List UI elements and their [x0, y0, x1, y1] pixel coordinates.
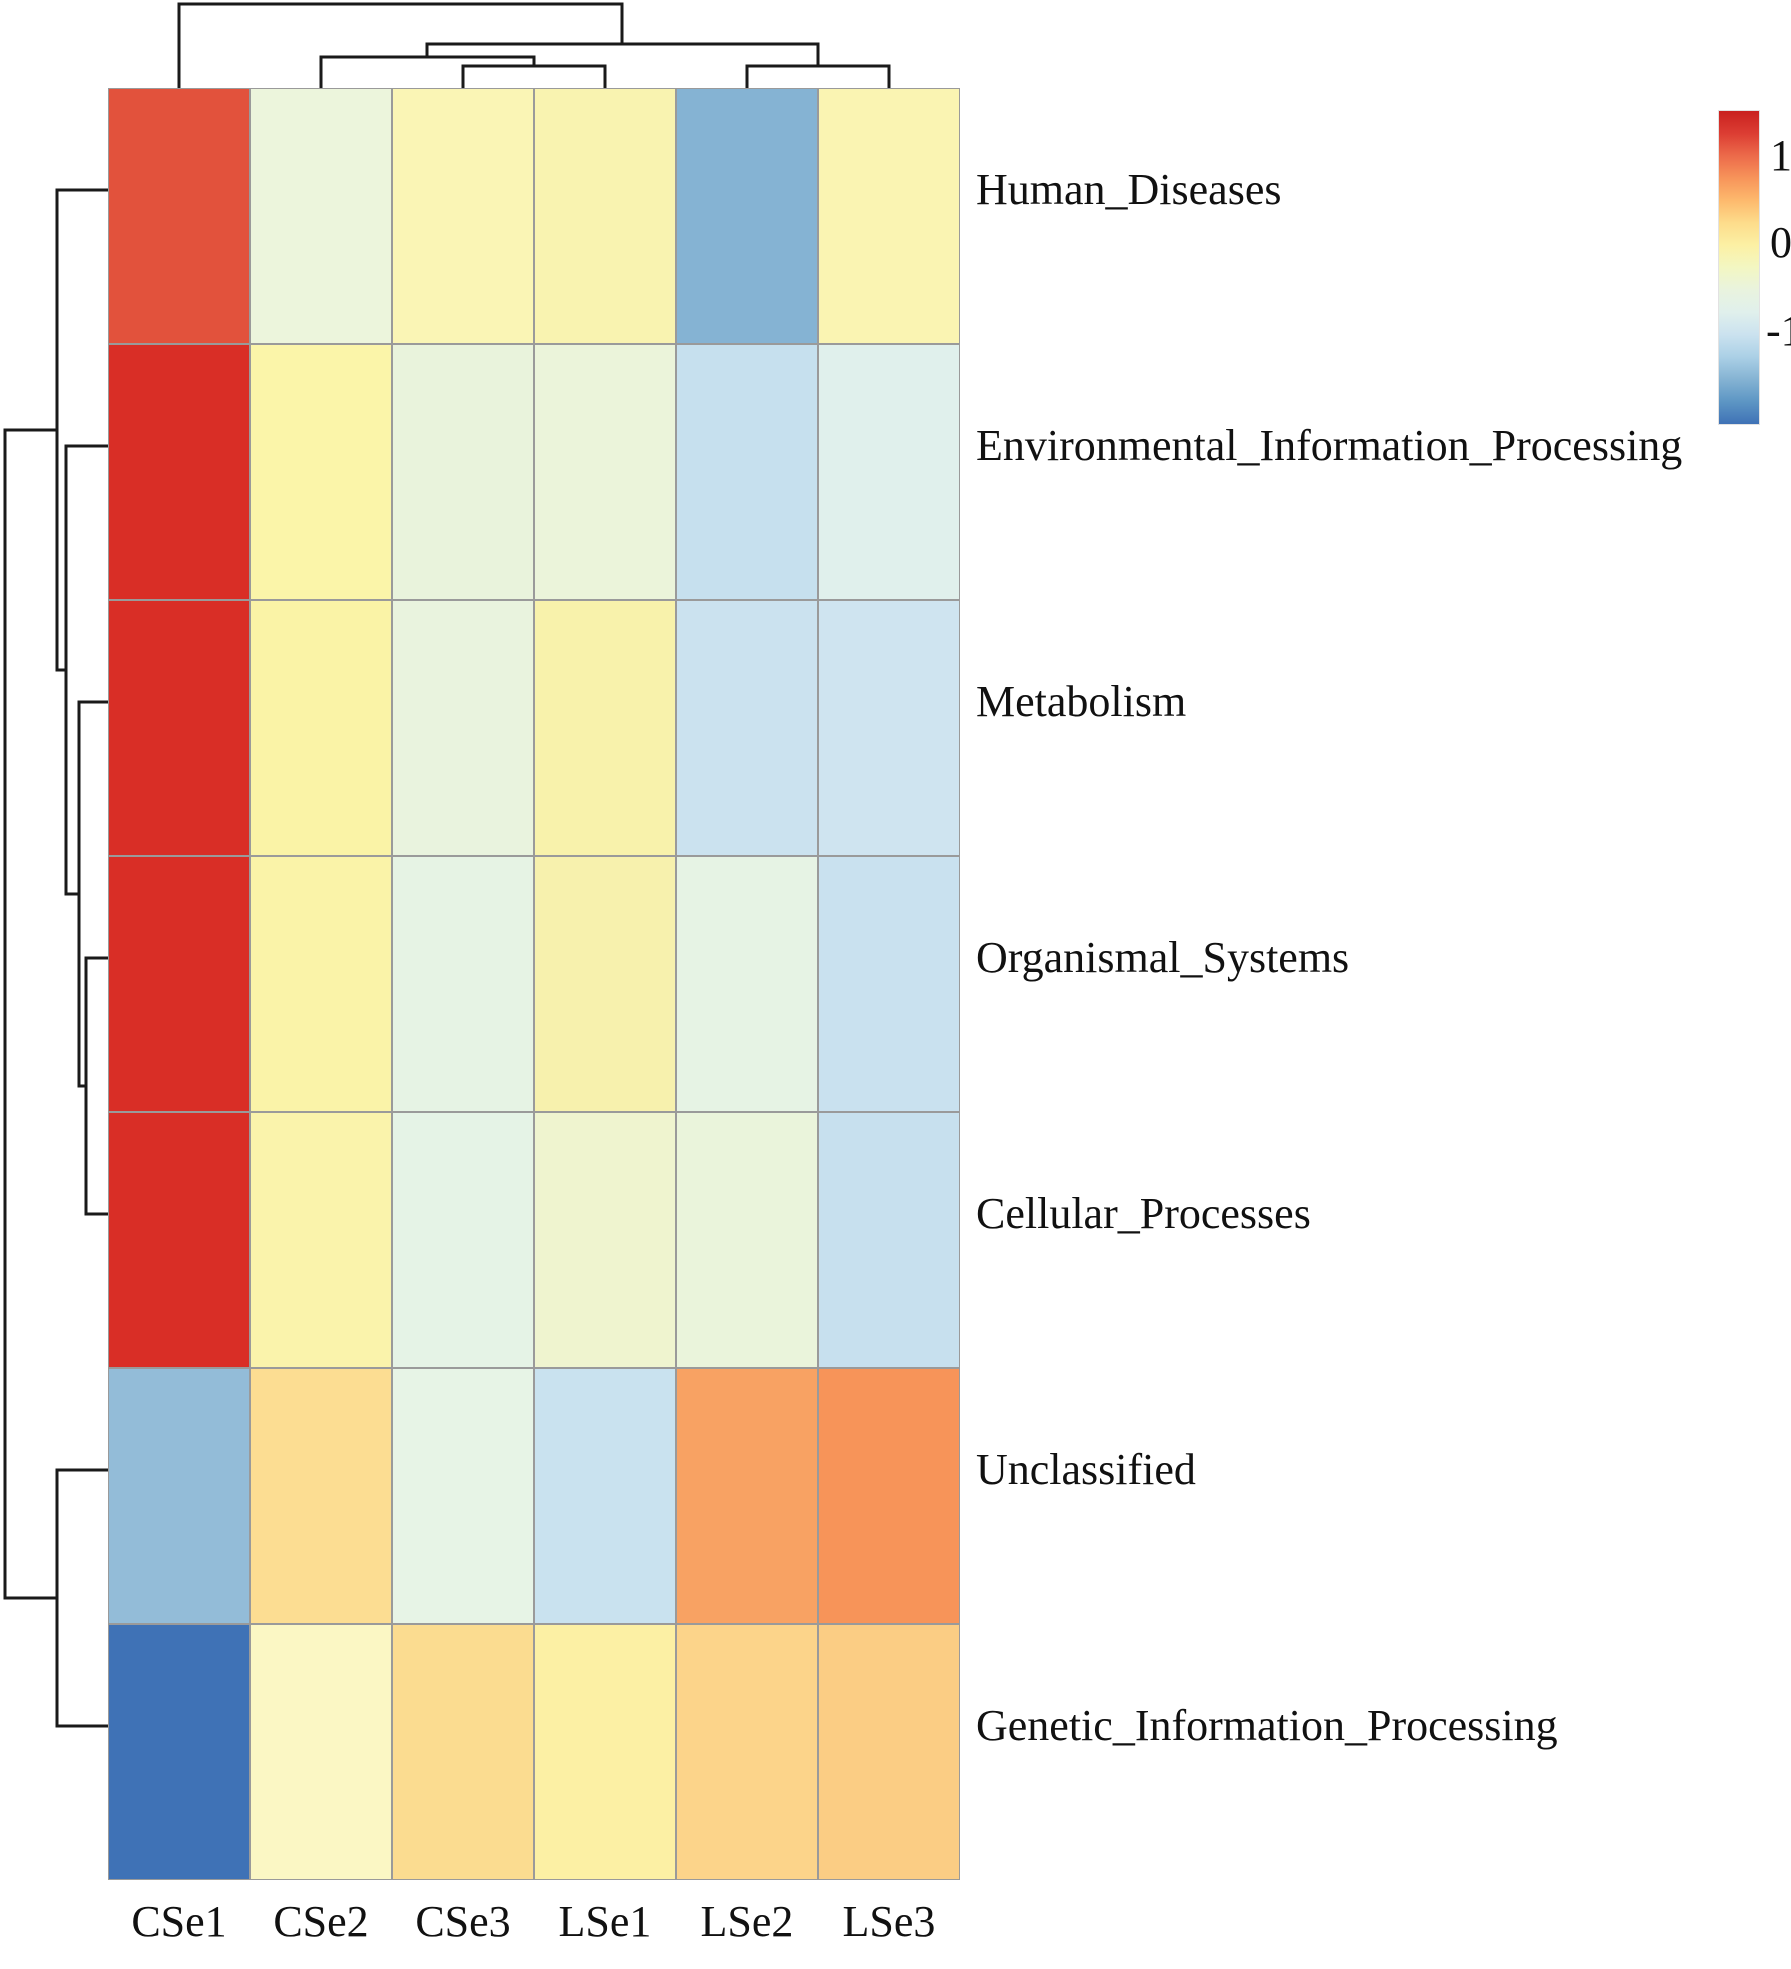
heatmap-cell [250, 88, 392, 344]
row-label-human-diseases: Human_Diseases [976, 168, 1282, 212]
heatmap-cell [818, 88, 960, 344]
heatmap-cell [676, 600, 818, 856]
column-dendrogram [0, 0, 1791, 95]
heatmap-cell [534, 1112, 676, 1368]
column-label-lse3: LSe3 [818, 1900, 960, 1944]
heatmap-cell [392, 1624, 534, 1880]
heatmap-cell [392, 600, 534, 856]
heatmap-cell [108, 88, 250, 344]
heatmap-cell [676, 1368, 818, 1624]
heatmap-cell [676, 1112, 818, 1368]
row-label-metabolism: Metabolism [976, 680, 1186, 724]
colorbar-legend: 1 0 -1 [1718, 110, 1791, 430]
figure-canvas: Human_Diseases Environmental_Information… [0, 0, 1791, 1969]
heatmap-cell [108, 600, 250, 856]
heatmap-cell [534, 600, 676, 856]
heatmap-cell [250, 600, 392, 856]
row-dendrogram [0, 0, 115, 1969]
heatmap-cell [676, 1624, 818, 1880]
heatmap-cell [392, 1112, 534, 1368]
heatmap-grid [108, 88, 960, 1880]
colorbar-tick-mid: 0 [1770, 221, 1791, 265]
heatmap-cell [392, 88, 534, 344]
heatmap-cell [818, 1624, 960, 1880]
row-label-organismal-systems: Organismal_Systems [976, 936, 1349, 980]
heatmap-cell [250, 1624, 392, 1880]
heatmap-cell [534, 1624, 676, 1880]
row-label-genetic-information-processing: Genetic_Information_Processing [976, 1704, 1558, 1748]
column-label-lse2: LSe2 [676, 1900, 818, 1944]
heatmap-cell [818, 1112, 960, 1368]
heatmap-cell [250, 1368, 392, 1624]
heatmap-cell [108, 1112, 250, 1368]
heatmap-cell [108, 856, 250, 1112]
heatmap-cell [534, 856, 676, 1112]
row-label-unclassified: Unclassified [976, 1448, 1196, 1492]
heatmap-cell [108, 1368, 250, 1624]
heatmap-cell [392, 856, 534, 1112]
heatmap-cell [676, 344, 818, 600]
heatmap-cell [108, 1624, 250, 1880]
column-label-lse1: LSe1 [534, 1900, 676, 1944]
heatmap-cell [676, 88, 818, 344]
column-label-cse3: CSe3 [392, 1900, 534, 1944]
heatmap-cell [250, 1112, 392, 1368]
heatmap-cell [818, 600, 960, 856]
heatmap-cell [534, 88, 676, 344]
column-label-cse1: CSe1 [108, 1900, 250, 1944]
colorbar-tick-low: -1 [1766, 309, 1791, 353]
heatmap-cell [818, 344, 960, 600]
colorbar-gradient [1718, 110, 1760, 425]
column-label-cse2: CSe2 [250, 1900, 392, 1944]
heatmap-cell [534, 344, 676, 600]
heatmap-cell [392, 1368, 534, 1624]
colorbar-tick-high: 1 [1770, 134, 1791, 178]
heatmap-cell [108, 344, 250, 600]
heatmap-cell [676, 856, 818, 1112]
row-label-environmental-information-processing: Environmental_Information_Processing [976, 424, 1682, 468]
heatmap-cell [392, 344, 534, 600]
heatmap-cell [250, 856, 392, 1112]
heatmap-cell [818, 856, 960, 1112]
heatmap-cell [534, 1368, 676, 1624]
row-label-cellular-processes: Cellular_Processes [976, 1192, 1311, 1236]
heatmap-cell [250, 344, 392, 600]
heatmap-cell [818, 1368, 960, 1624]
